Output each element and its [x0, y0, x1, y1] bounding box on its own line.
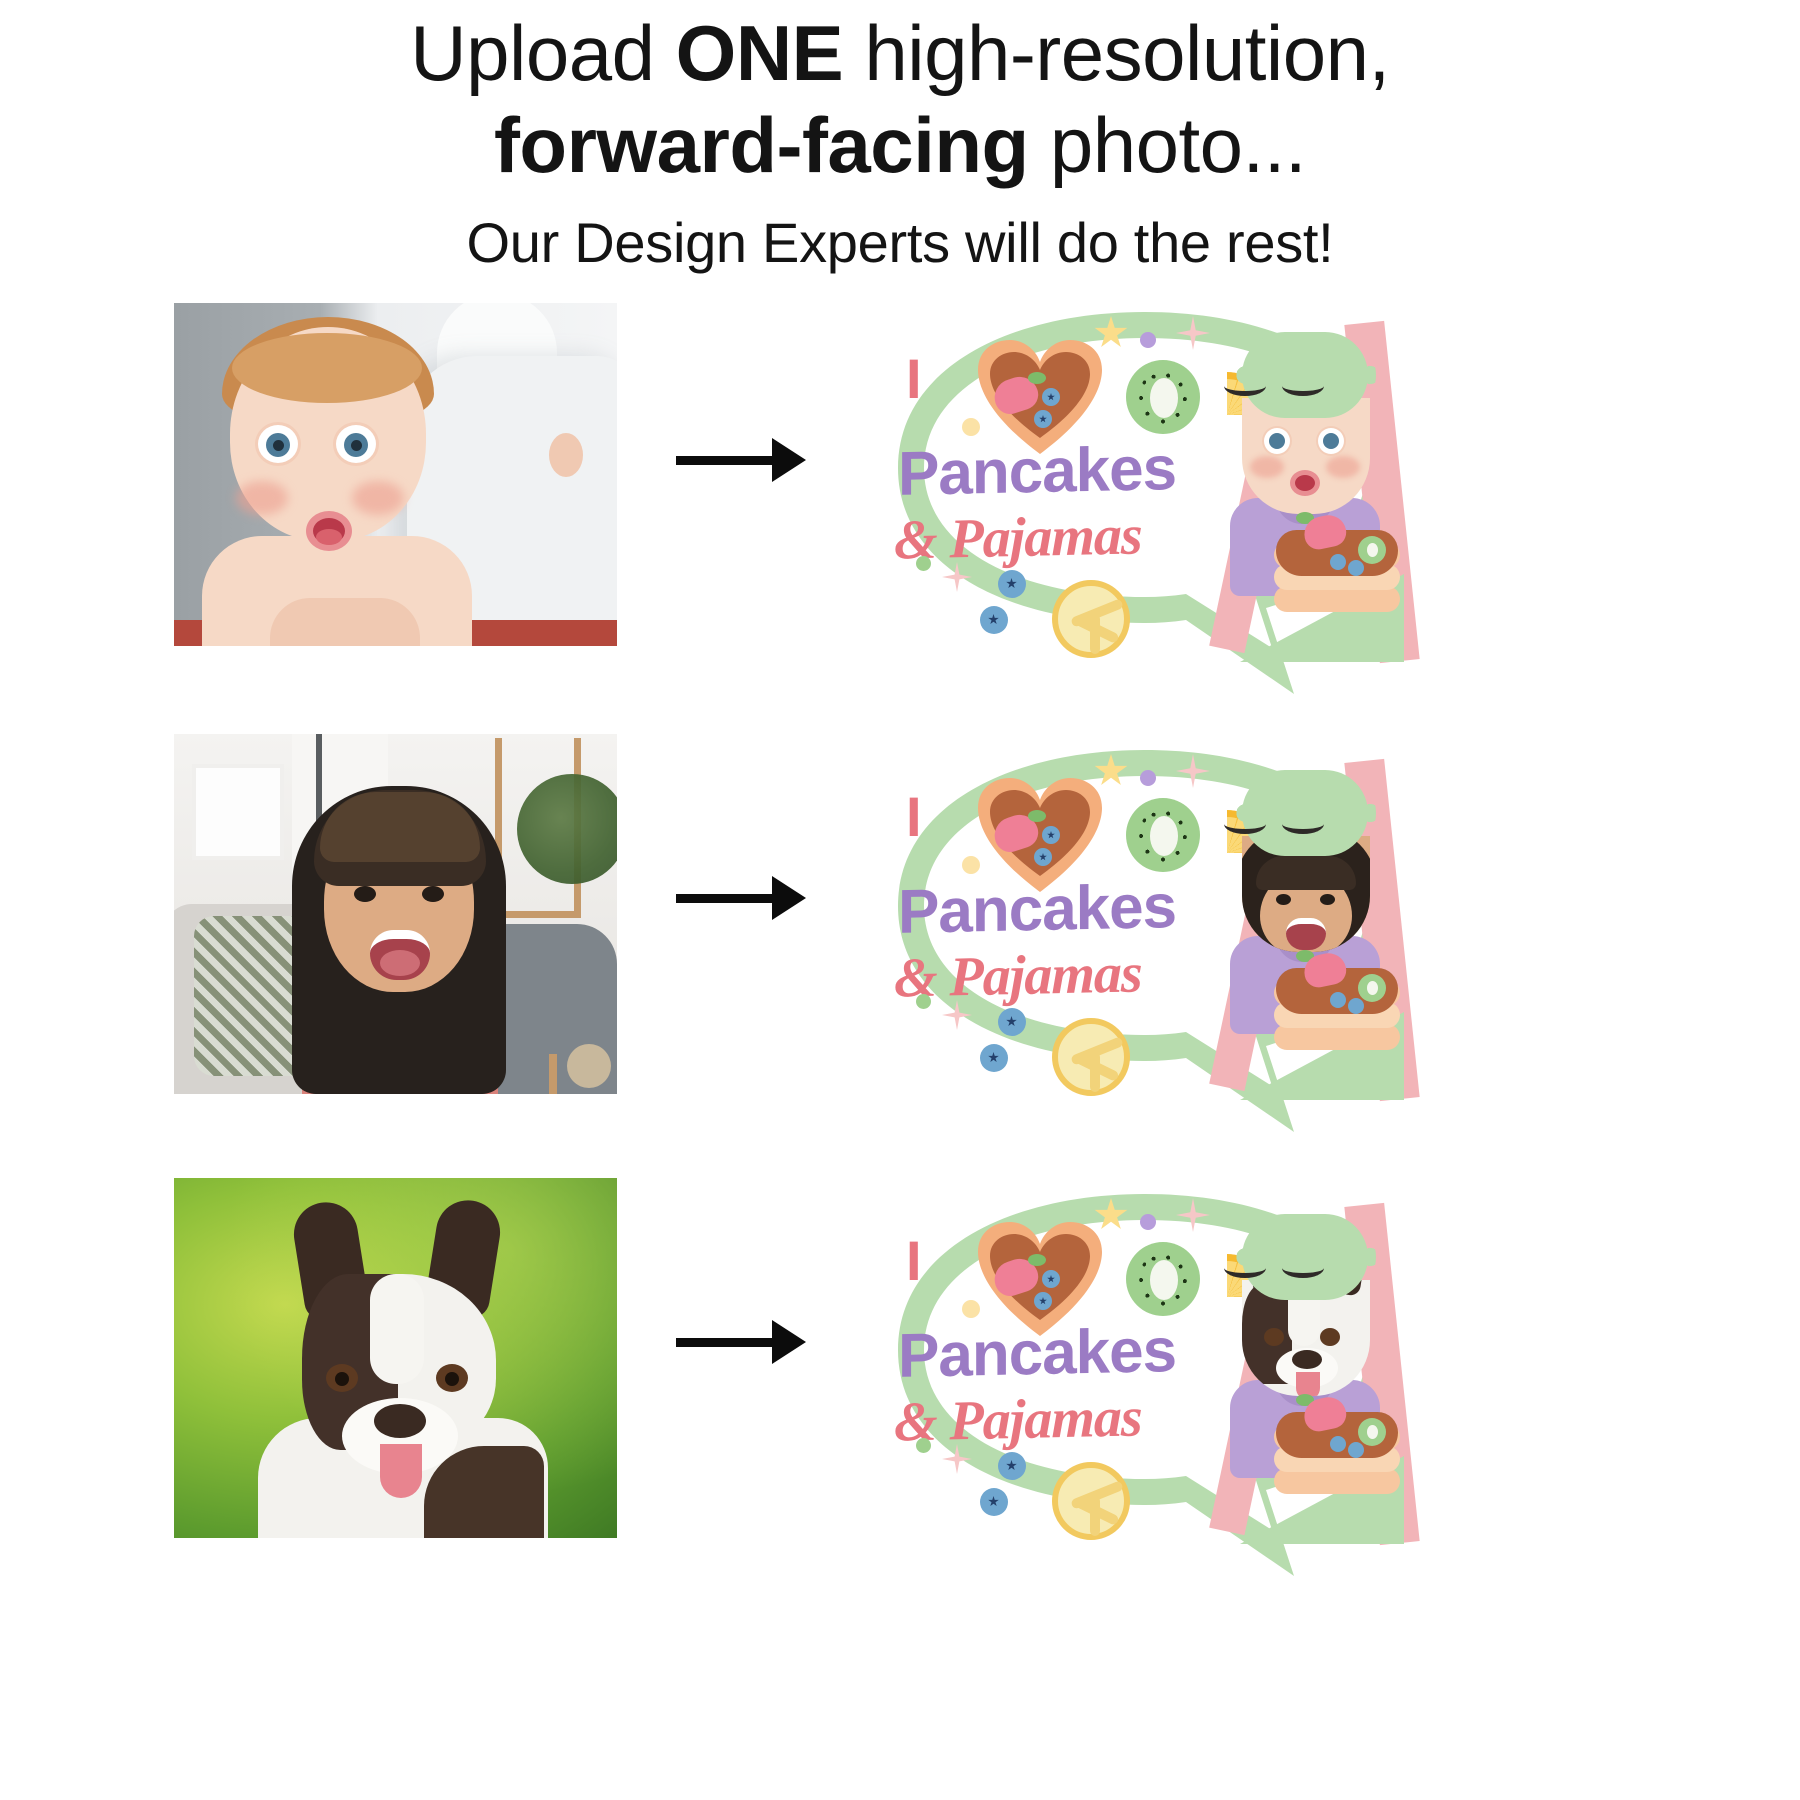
headline-line-2: forward-facing photo... [0, 106, 1800, 184]
face-tongue [1296, 1372, 1320, 1396]
closed-eye-lash-left-icon [1224, 1258, 1266, 1278]
sleep-mask-icon [1242, 770, 1368, 856]
pancake-stack-icon [1274, 1412, 1400, 1516]
kiwi-core [1150, 816, 1178, 856]
dog-photo-scene [174, 1178, 617, 1538]
dot-purple [1140, 1214, 1156, 1230]
photo-prop-result-baby: I [880, 298, 1410, 708]
baby-pupil-left [273, 440, 284, 451]
headline-text-3: photo... [1029, 101, 1306, 189]
headline-text-1: Upload [410, 9, 675, 97]
face-iris-left [1269, 433, 1285, 449]
headline-bold-forward-facing: forward-facing [494, 101, 1029, 189]
baby-cheek-right [352, 481, 404, 515]
blueberry-icon [1348, 1442, 1364, 1458]
blueberry-icon [1330, 554, 1346, 570]
page-root: Upload ONE high-resolution, forward-faci… [0, 0, 1800, 1800]
dot-green [916, 1438, 931, 1453]
photo-prop-result-girl: I [880, 736, 1410, 1146]
uploaded-photo-girl [174, 734, 617, 1094]
banana-detail [1090, 1496, 1100, 1536]
dog-blaze [370, 1274, 424, 1384]
sign-word-pancakes: Pancakes [898, 871, 1176, 948]
arrow-head-icon [772, 876, 806, 920]
banana-detail [1090, 1052, 1100, 1092]
closed-eye-lash-right-icon [1282, 1258, 1324, 1278]
dog-pupil-left [335, 1372, 349, 1386]
girl-bangs-highlight [320, 792, 480, 862]
blueberry-icon [1330, 1436, 1346, 1452]
closed-eye-lash-left-icon [1224, 376, 1266, 396]
character-figure [1198, 1204, 1404, 1544]
kiwi-core [1150, 378, 1178, 418]
dot-purple [1140, 332, 1156, 348]
girl-tongue [380, 950, 420, 976]
sign-word-pajamas: & Pajamas [894, 1385, 1142, 1454]
face-eye-left [1276, 894, 1291, 905]
kiwi-core [1150, 1260, 1178, 1300]
arrow-shaft [676, 1338, 780, 1347]
uploaded-photo-dog [174, 1178, 617, 1538]
sign-word-pancakes: Pancakes [898, 1315, 1176, 1392]
baby-cheek-left [236, 481, 288, 515]
page-subtitle: Our Design Experts will do the rest! [0, 210, 1800, 275]
face-eye-right [1320, 1328, 1340, 1346]
photo-prop-result-dog: I [880, 1180, 1410, 1590]
character-figure [1198, 322, 1404, 662]
face-cheek-left [1250, 456, 1284, 478]
sign-word-i: I [906, 784, 922, 849]
header: Upload ONE high-resolution, forward-faci… [0, 0, 1800, 275]
headline-text-2: high-resolution, [843, 9, 1390, 97]
girl-eye-left [354, 886, 376, 902]
dog-pupil-right [445, 1372, 459, 1386]
strawberry-leaf-icon [1028, 810, 1046, 822]
sign-word-pajamas: & Pajamas [894, 941, 1142, 1010]
pancake-stack-icon [1274, 968, 1400, 1072]
background-chair-leg [549, 1054, 557, 1094]
closed-eye-lash-right-icon [1282, 376, 1324, 396]
baby-arm [270, 598, 420, 646]
example-row-baby: I [0, 290, 1800, 710]
closed-eye-lash-right-icon [1282, 814, 1324, 834]
arrow-head-icon [772, 1320, 806, 1364]
blueberry-icon [1348, 560, 1364, 576]
girl-photo-scene [174, 734, 617, 1094]
baby-photo-scene [174, 303, 617, 646]
sign-word-i: I [906, 346, 922, 411]
dot-green [916, 994, 931, 1009]
sleep-mask-icon [1242, 1214, 1368, 1300]
kiwi-core [1367, 981, 1378, 995]
sign-word-pajamas: & Pajamas [894, 503, 1142, 572]
dot-yellow [962, 856, 980, 874]
kiwi-core [1367, 1425, 1378, 1439]
face-iris-right [1323, 433, 1339, 449]
sign-contents: I [880, 298, 1410, 708]
face-nose [1292, 1350, 1322, 1369]
face-eye-left [1264, 1328, 1284, 1346]
baby-ear [549, 433, 583, 477]
banana-slice-icon [1052, 1018, 1130, 1096]
kiwi-core [1367, 543, 1378, 557]
banana-slice-icon [1052, 1462, 1130, 1540]
face-eye-right [1320, 894, 1335, 905]
face-bangs [1256, 856, 1356, 890]
example-row-girl: I [0, 728, 1800, 1148]
dog-nose [374, 1404, 426, 1438]
dot-green [916, 556, 931, 571]
transform-arrow [676, 432, 806, 488]
character-figure [1198, 760, 1404, 1100]
blueberry-icon [1348, 998, 1364, 1014]
baby-hair-highlight [232, 333, 422, 403]
uploaded-photo-baby [174, 303, 617, 646]
arrow-shaft [676, 894, 780, 903]
face-cheek-right [1326, 456, 1360, 478]
dog-tongue [380, 1444, 422, 1498]
arrow-head-icon [772, 438, 806, 482]
dot-yellow [962, 418, 980, 436]
transform-arrow [676, 870, 806, 926]
dot-purple [1140, 770, 1156, 786]
closed-eye-lash-left-icon [1224, 814, 1266, 834]
baby-tongue [316, 529, 342, 545]
blueberry-icon [1330, 992, 1346, 1008]
page-title: Upload ONE high-resolution, forward-faci… [0, 0, 1800, 184]
arrow-shaft [676, 456, 780, 465]
baby-pupil-right [351, 440, 362, 451]
background-plant [517, 774, 617, 884]
strawberry-leaf-icon [1028, 372, 1046, 384]
face-mouth [1286, 918, 1326, 950]
banana-slice-icon [1052, 580, 1130, 658]
sleep-mask-icon [1242, 332, 1368, 418]
transform-arrow [676, 1314, 806, 1370]
sign-contents: I [880, 736, 1410, 1146]
background-shelf [192, 764, 284, 860]
background-basket [567, 1044, 611, 1088]
girl-eye-right [422, 886, 444, 902]
strawberry-leaf-icon [1028, 1254, 1046, 1266]
banana-detail [1090, 614, 1100, 654]
example-row-dog: I [0, 1172, 1800, 1592]
headline-bold-one: ONE [676, 9, 844, 97]
dot-yellow [962, 1300, 980, 1318]
face-mouth [1290, 470, 1320, 496]
pancake-stack-icon [1274, 530, 1400, 634]
sign-word-pancakes: Pancakes [898, 433, 1176, 510]
sign-contents: I [880, 1180, 1410, 1590]
sign-word-i: I [906, 1228, 922, 1293]
